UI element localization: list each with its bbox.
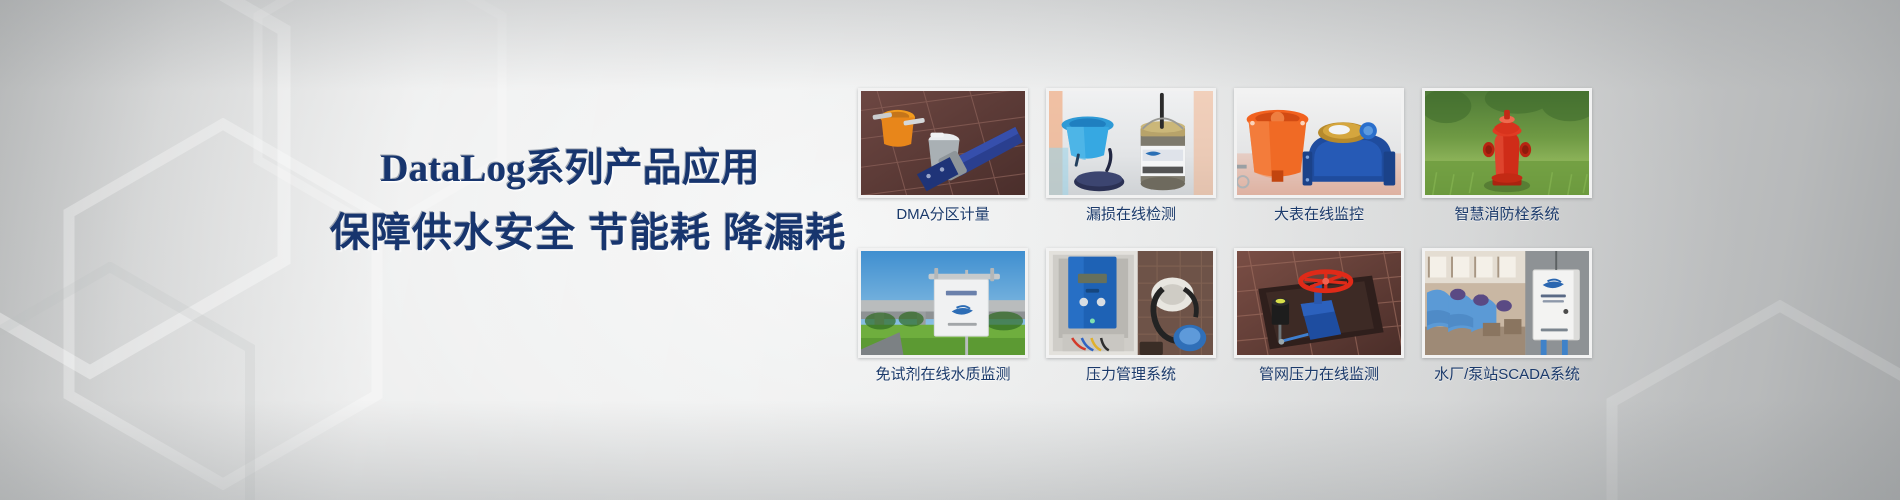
product-thumbnail-leak-detection[interactable] <box>1046 88 1216 198</box>
hexagon-watermark-icon <box>250 0 510 236</box>
headline-block: DataLog系列产品应用 保障供水安全 节能耗 降漏耗 <box>330 148 810 255</box>
promo-banner: DataLog系列产品应用 保障供水安全 节能耗 降漏耗 <box>0 0 1900 500</box>
product-thumbnail-pipe-pressure[interactable] <box>1234 248 1404 358</box>
product-card[interactable]: 管网压力在线监测 <box>1234 248 1404 396</box>
product-card[interactable]: 压力管理系统 <box>1046 248 1216 396</box>
product-card[interactable]: 智慧消防栓系统 <box>1422 88 1592 236</box>
headline-primary: DataLog系列产品应用 <box>330 148 810 190</box>
product-card[interactable]: 免试剂在线水质监测 <box>858 248 1028 396</box>
product-caption: 管网压力在线监测 <box>1259 367 1379 382</box>
product-card[interactable]: DMA分区计量 <box>858 88 1028 236</box>
product-caption: 水厂/泵站SCADA系统 <box>1434 367 1580 382</box>
product-thumbnail-dma[interactable] <box>858 88 1028 198</box>
product-caption: DMA分区计量 <box>896 207 989 222</box>
product-caption: 智慧消防栓系统 <box>1454 207 1559 222</box>
product-caption: 漏损在线检测 <box>1086 207 1176 222</box>
product-caption: 免试剂在线水质监测 <box>875 367 1010 382</box>
hexagon-watermark-icon <box>0 262 260 500</box>
hexagon-watermark-icon <box>58 118 388 490</box>
product-card[interactable]: 大表在线监控 <box>1234 88 1404 236</box>
product-caption: 大表在线监控 <box>1274 207 1364 222</box>
product-card[interactable]: 漏损在线检测 <box>1046 88 1216 236</box>
product-thumbnail-scada[interactable] <box>1422 248 1592 358</box>
product-thumbnail-smart-hydrant[interactable] <box>1422 88 1592 198</box>
hexagon-watermark-icon <box>1600 300 1900 500</box>
product-thumbnail-water-quality[interactable] <box>858 248 1028 358</box>
product-grid: DMA分区计量 <box>858 88 1592 396</box>
hexagon-watermark-icon <box>0 0 300 380</box>
product-card[interactable]: 水厂/泵站SCADA系统 <box>1422 248 1592 396</box>
product-caption: 压力管理系统 <box>1086 367 1176 382</box>
headline-secondary: 保障供水安全 节能耗 降漏耗 <box>330 212 810 255</box>
product-thumbnail-pressure-management[interactable] <box>1046 248 1216 358</box>
product-thumbnail-large-meter[interactable] <box>1234 88 1404 198</box>
